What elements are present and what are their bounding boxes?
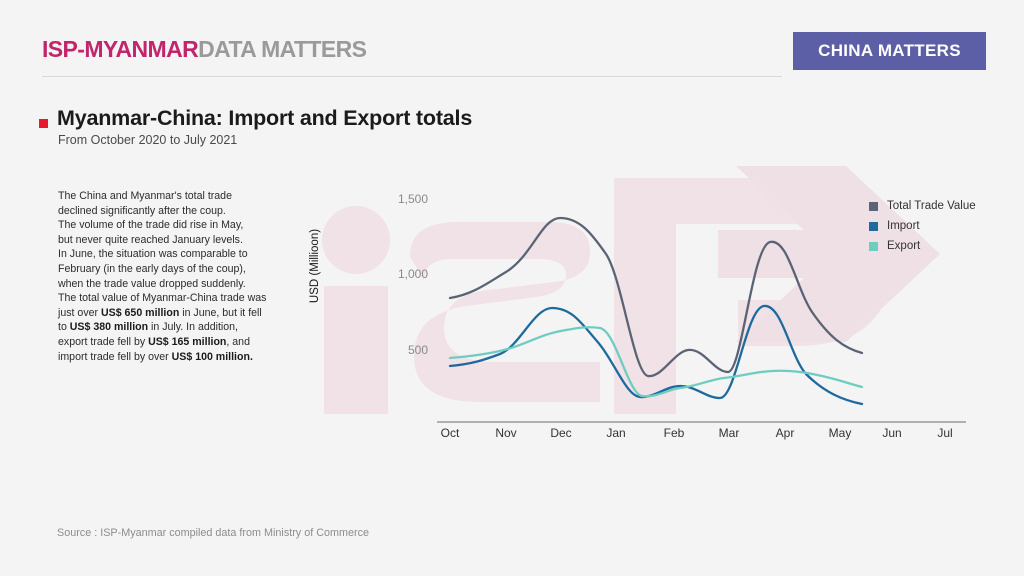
china-matters-badge: CHINA MATTERS: [793, 32, 986, 70]
highlight-july-total: US$ 380 million: [70, 321, 148, 333]
china-matters-badge-label: CHINA MATTERS: [818, 41, 961, 61]
x-tick-jun: Jun: [882, 426, 901, 440]
legend-item-import: Import: [869, 216, 1009, 236]
summary-line-9-pre: just over: [58, 307, 101, 319]
highlight-import-drop: US$ 100 million.: [172, 351, 253, 363]
source-note: Source : ISP-Myanmar compiled data from …: [57, 527, 369, 539]
x-tick-jan: Jan: [606, 426, 625, 440]
legend-swatch-total-trade-value: [869, 202, 878, 211]
highlight-june-total: US$ 650 million: [101, 307, 179, 319]
x-tick-oct: Oct: [441, 426, 460, 440]
brand-logo-secondary: DATA MATTERS: [198, 36, 366, 62]
summary-line-7: when the trade value dropped suddenly.: [58, 278, 246, 290]
summary-line-1: The China and Myanmar's total trade: [58, 190, 232, 202]
header-divider: [42, 76, 782, 77]
chart-legend: Total Trade Value Import Export: [869, 196, 1009, 256]
page-header: ISP-MYANMARDATA MATTERS CHINA MATTERS: [0, 0, 1024, 86]
x-tick-feb: Feb: [664, 426, 685, 440]
series-line-total-trade-value: [450, 218, 862, 376]
summary-line-10-pre: to: [58, 321, 70, 333]
brand-logo: ISP-MYANMARDATA MATTERS: [42, 36, 366, 63]
x-tick-nov: Nov: [495, 426, 516, 440]
summary-line-12-pre: import trade fell by over: [58, 351, 172, 363]
summary-line-6: February (in the early days of the coup)…: [58, 263, 246, 275]
x-tick-dec: Dec: [550, 426, 571, 440]
summary-line-8: The total value of Myanmar-China trade w…: [58, 292, 266, 304]
legend-swatch-export: [869, 242, 878, 251]
x-tick-jul: Jul: [937, 426, 952, 440]
summary-line-4: but never quite reached January levels.: [58, 234, 243, 246]
legend-label-total-trade-value: Total Trade Value: [887, 200, 976, 212]
brand-logo-primary: ISP-MYANMAR: [42, 36, 198, 62]
x-tick-mar: Mar: [719, 426, 740, 440]
summary-line-3: The volume of the trade did rise in May,: [58, 219, 243, 231]
legend-swatch-import: [869, 222, 878, 231]
summary-line-5: In June, the situation was comparable to: [58, 248, 248, 260]
summary-line-2: declined significantly after the coup.: [58, 205, 226, 217]
x-tick-apr: Apr: [776, 426, 795, 440]
legend-item-total-trade-value: Total Trade Value: [869, 196, 1009, 216]
legend-label-export: Export: [887, 240, 920, 252]
summary-line-10-post: in July. In addition,: [148, 321, 238, 333]
x-axis-ticks: Oct Nov Dec Jan Feb Mar Apr May Jun Jul: [284, 426, 996, 450]
legend-label-import: Import: [887, 220, 920, 232]
legend-item-export: Export: [869, 236, 1009, 256]
summary-paragraph: The China and Myanmar's total trade decl…: [58, 189, 283, 364]
page-title: Myanmar-China: Import and Export totals: [57, 106, 472, 131]
summary-line-11-pre: export trade fell by: [58, 336, 148, 348]
x-tick-may: May: [829, 426, 852, 440]
series-line-import: [450, 306, 862, 404]
summary-line-9-post: in June, but it fell: [179, 307, 261, 319]
page-subtitle: From October 2020 to July 2021: [58, 133, 237, 147]
title-bullet-icon: [39, 119, 48, 128]
highlight-export-drop: US$ 165 million: [148, 336, 226, 348]
summary-line-11-post: , and: [226, 336, 250, 348]
series-line-export: [450, 327, 862, 396]
